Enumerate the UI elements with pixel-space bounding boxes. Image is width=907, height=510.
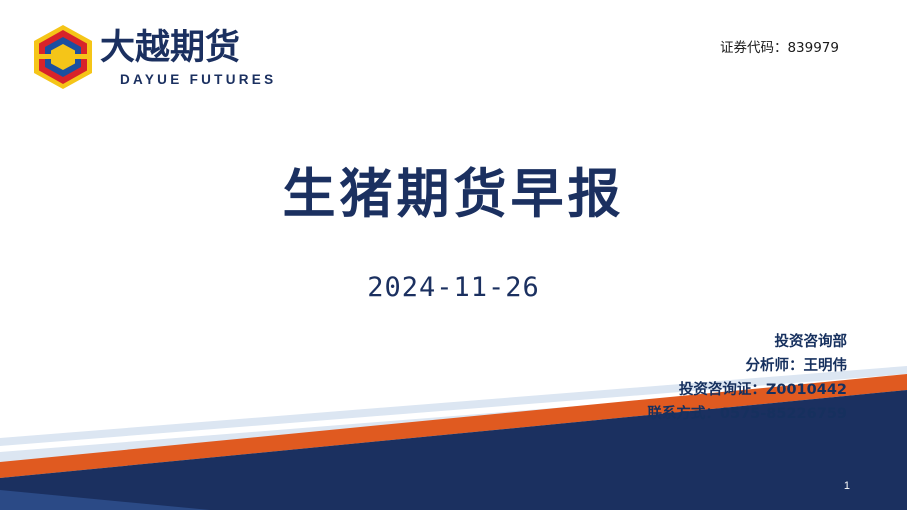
report-date: 2024-11-26 (0, 272, 907, 303)
logo-brand-en: DAYUE FUTURES (120, 72, 276, 87)
contact-phone: 联系方式：0575-85226759 (647, 402, 847, 426)
security-code: 证券代码：839979 (720, 36, 839, 56)
contact-block: 投资咨询部 分析师：王明伟 投资咨询证：Z0010442 联系方式：0575-8… (647, 330, 847, 426)
dayue-hexagon-logo-icon (32, 24, 94, 90)
brand-logo: 大越期货 DAYUE FUTURES (32, 24, 262, 94)
logo-brand-cn: 大越期货 (100, 26, 240, 70)
contact-analyst: 分析师：王明伟 (647, 354, 847, 378)
contact-department: 投资咨询部 (647, 330, 847, 354)
page-number: 1 (844, 480, 850, 492)
contact-license: 投资咨询证：Z0010442 (647, 378, 847, 402)
slide-root: 大越期货 DAYUE FUTURES 证券代码：839979 生猪期货早报 20… (0, 0, 907, 510)
page-title: 生猪期货早报 (0, 152, 907, 228)
